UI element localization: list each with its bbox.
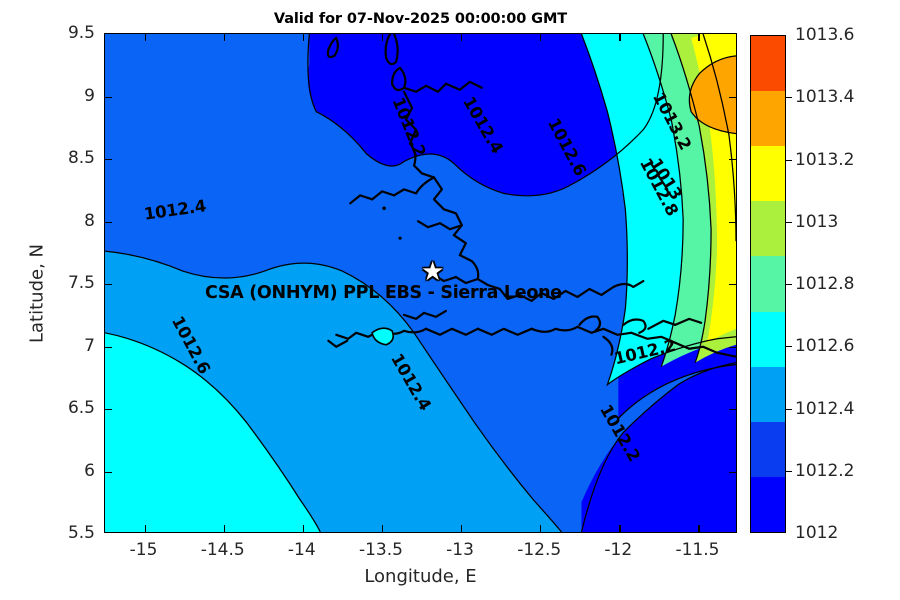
x-tick-label: -13	[446, 540, 474, 560]
y-tick-mark	[729, 409, 736, 410]
y-tick-mark	[105, 347, 112, 348]
colorbar-band	[751, 146, 785, 201]
colorbar-band	[751, 201, 785, 256]
y-tick-mark	[105, 472, 112, 473]
x-tick-mark	[619, 525, 620, 532]
y-tick-mark	[105, 222, 112, 223]
figure-root: Valid for 07-Nov-2025 00:00:00 GMT	[0, 0, 900, 600]
x-tick-label: -15	[130, 540, 158, 560]
y-tick-label: 8.5	[40, 148, 95, 168]
colorbar[interactable]	[750, 35, 786, 533]
colorbar-tick-label: 1012.4	[795, 399, 854, 419]
colorbar-tick-mark	[786, 160, 792, 161]
colorbar-band	[751, 477, 785, 532]
y-tick-label: 8	[40, 211, 95, 231]
x-tick-mark	[461, 34, 462, 41]
x-tick-label: -13.5	[359, 540, 403, 560]
y-tick-label: 5.5	[40, 523, 95, 543]
colorbar-tick-label: 1013.6	[795, 25, 854, 45]
x-tick-mark	[224, 525, 225, 532]
x-tick-label: -12.5	[517, 540, 561, 560]
x-tick-mark	[145, 525, 146, 532]
colorbar-tick-label: 1012	[795, 523, 838, 543]
star-marker: ★	[421, 259, 444, 285]
x-tick-mark	[303, 34, 304, 41]
site-annotation-label: CSA (ONHYM) PPL EBS - Sierra Leone	[205, 283, 562, 303]
contour-plot-area[interactable]: 1012.41012.61012.21012.41012.61013.21013…	[104, 33, 737, 533]
y-tick-mark	[729, 97, 736, 98]
x-tick-label: -11.5	[675, 540, 719, 560]
x-tick-label: -14	[288, 540, 316, 560]
y-tick-label: 6	[40, 461, 95, 481]
x-tick-mark	[224, 34, 225, 41]
colorbar-tick-mark	[786, 222, 792, 223]
colorbar-tick-mark	[786, 346, 792, 347]
x-tick-mark	[382, 34, 383, 41]
colorbar-tick-mark	[786, 471, 792, 472]
y-tick-label: 6.5	[40, 398, 95, 418]
y-tick-mark	[105, 97, 112, 98]
x-tick-mark	[461, 525, 462, 532]
y-tick-label: 7.5	[40, 273, 95, 293]
x-tick-label: -12	[604, 540, 632, 560]
colorbar-tick-label: 1012.6	[795, 336, 854, 356]
x-tick-mark	[540, 525, 541, 532]
colorbar-tick-label: 1013.2	[795, 150, 854, 170]
y-tick-mark	[105, 284, 112, 285]
colorbar-tick-label: 1012.8	[795, 274, 854, 294]
colorbar-tick-mark	[786, 284, 792, 285]
y-tick-mark	[729, 284, 736, 285]
colorbar-band	[751, 367, 785, 422]
colorbar-tick-label: 1013.4	[795, 87, 854, 107]
y-tick-mark	[105, 159, 112, 160]
page-title: Valid for 07-Nov-2025 00:00:00 GMT	[104, 11, 737, 27]
colorbar-tick-label: 1013	[795, 212, 838, 232]
y-tick-label: 7	[40, 336, 95, 356]
y-tick-label: 9	[40, 86, 95, 106]
x-tick-mark	[303, 525, 304, 532]
y-tick-mark	[105, 409, 112, 410]
colorbar-band	[751, 256, 785, 311]
colorbar-band	[751, 312, 785, 367]
y-tick-mark	[729, 159, 736, 160]
x-tick-mark	[145, 34, 146, 41]
x-tick-mark	[698, 525, 699, 532]
y-tick-mark	[729, 222, 736, 223]
y-axis-title: Latitude, N	[27, 179, 48, 409]
colorbar-tick-mark	[786, 97, 792, 98]
y-tick-mark	[729, 472, 736, 473]
colorbar-band	[751, 91, 785, 146]
x-tick-mark	[698, 34, 699, 41]
x-tick-mark	[382, 525, 383, 532]
colorbar-band	[751, 36, 785, 91]
x-axis-title: Longitude, E	[104, 566, 737, 587]
colorbar-band	[751, 422, 785, 477]
x-tick-mark	[619, 34, 620, 41]
y-tick-label: 9.5	[40, 23, 95, 43]
colorbar-tick-label: 1012.2	[795, 461, 854, 481]
x-tick-mark	[540, 34, 541, 41]
colorbar-tick-mark	[786, 409, 792, 410]
x-tick-label: -14.5	[201, 540, 245, 560]
y-tick-mark	[729, 347, 736, 348]
